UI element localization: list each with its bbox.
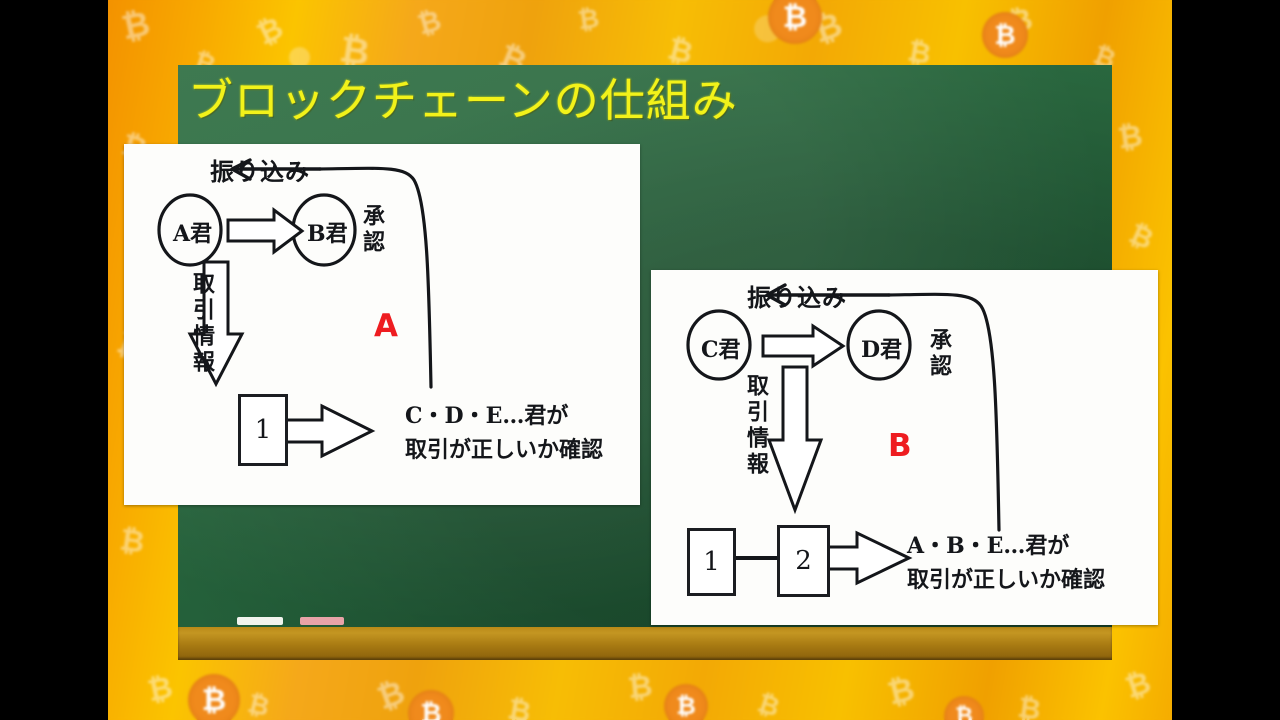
tx-info-label-a: 取引情報 [186,272,218,376]
diagram-card-b: C君 D君 振り込み 承認 取引情報 B 1 2 A・B・E…君が 取引が正しい… [651,270,1158,625]
diagram-tag-a: A [374,308,398,344]
receiver-label-a: B君 [307,216,348,248]
white-chalk [237,617,283,625]
transfer-label-b: 振り込み [747,278,847,313]
verify-line-1-a: C・D・E…君が [405,398,568,430]
sender-label-b: C君 [701,332,741,364]
page-title: ブロックチェーンの仕組み [188,72,888,130]
pink-chalk [300,617,344,625]
approval-label-a: 承認 [356,204,388,256]
letterbox-bar-left [0,0,108,720]
diagram-tag-b: B [888,428,912,464]
block-1-a: 1 [238,394,288,466]
verify-line-2-a: 取引が正しいか確認 [405,432,603,464]
block-2-b: 2 [777,525,830,597]
diagram-card-a: A君 B君 振り込み 承認 取引情報 A 1 C・D・E…君が 取引が正しいか確… [124,144,640,505]
verify-line-1-b: A・B・E…君が [907,528,1069,560]
transfer-label-a: 振り込み [210,152,310,187]
video-frame: ₿ ₿ ₿ ₿ ₿ ₿ ₿ ₿ ₿ ₿ ₿ ₿ ₿ ₿ ₿ ₿ ₿ ₿ ₿ ₿ … [0,0,1280,720]
receiver-label-b: D君 [861,332,902,364]
verify-line-2-b: 取引が正しいか確認 [907,562,1105,594]
tx-info-label-b: 取引情報 [740,374,772,478]
diagram-a-graphics: A君 B君 振り込み 承認 取引情報 A 1 C・D・E…君が 取引が正しいか確… [124,144,640,505]
chalk-tray [178,627,1112,660]
block-1-b: 1 [687,528,736,596]
diagram-b-graphics: C君 D君 振り込み 承認 取引情報 B 1 2 A・B・E…君が 取引が正しい… [651,270,1158,625]
approval-label-b: 承認 [923,328,955,380]
letterbox-bar-right [1172,0,1280,720]
sender-label-a: A君 [173,216,212,248]
